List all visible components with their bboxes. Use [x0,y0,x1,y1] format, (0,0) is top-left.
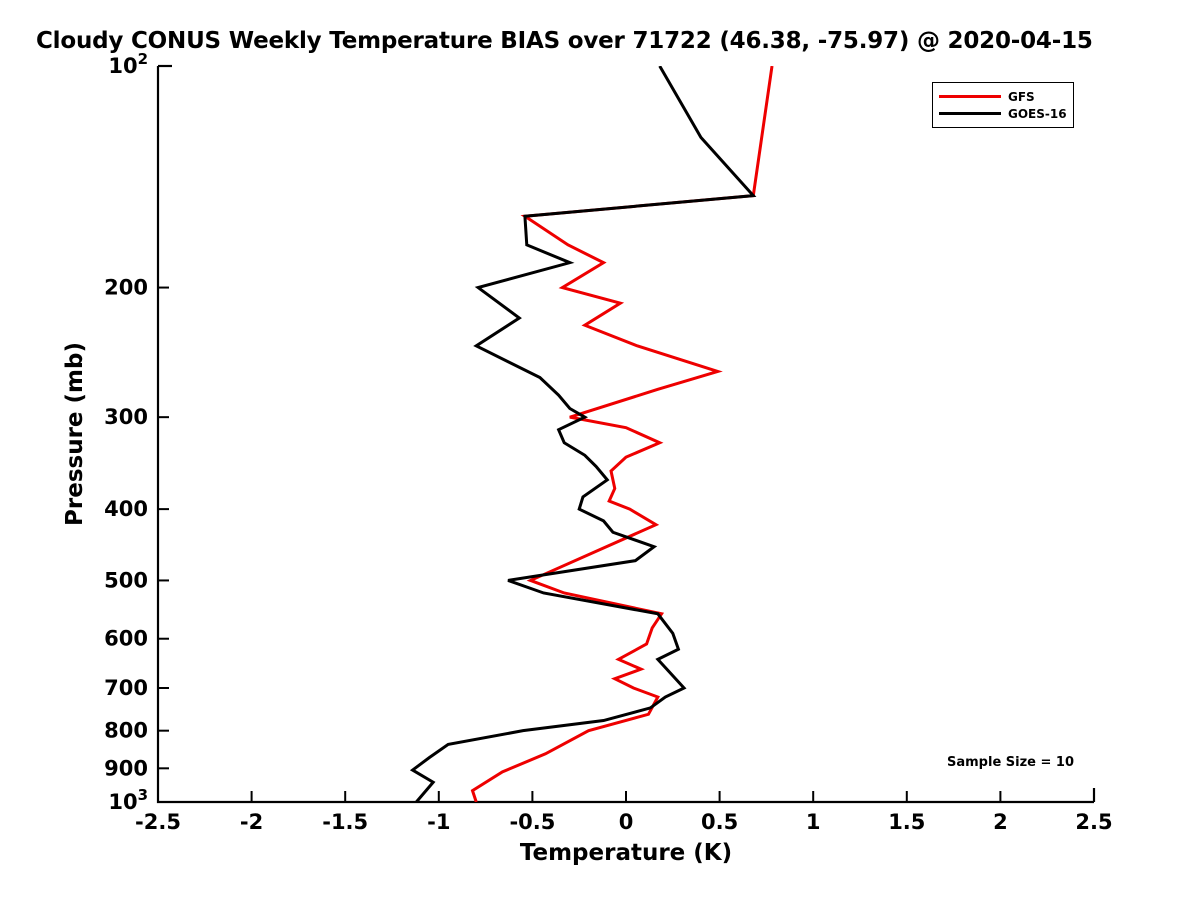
x-tick-label: -1.5 [322,810,368,834]
axis-frame [158,66,1094,802]
x-tick-label: -0.5 [509,810,555,834]
legend-swatch [939,112,1001,115]
chart-figure: Cloudy CONUS Weekly Temperature BIAS ove… [0,0,1200,900]
x-tick-label: -2 [240,810,263,834]
y-tick-label: 800 [104,719,148,743]
x-tick-label: 1 [806,810,821,834]
x-tick-label: 0 [619,810,634,834]
x-tick-label: 0.5 [701,810,738,834]
x-axis-title: Temperature (K) [520,840,732,866]
legend-item[interactable]: GOES-16 [933,105,1073,122]
x-tick-label: 2.5 [1075,810,1112,834]
legend-swatch [939,95,1001,98]
series-line-goes-16 [413,66,754,802]
sample-size-annotation: Sample Size = 10 [947,755,1074,770]
x-tick-label: 1.5 [888,810,925,834]
y-tick-label: 600 [104,627,148,651]
y-tick-label: 200 [104,276,148,300]
y-tick-label: 300 [104,405,148,429]
x-tick-label: -2.5 [135,810,181,834]
series-line-gfs [473,66,773,802]
legend-label: GOES-16 [1008,107,1067,121]
y-tick-label: 500 [104,568,148,592]
legend-label: GFS [1008,90,1035,104]
y-tick-label: 102 [108,50,148,78]
y-tick-label: 400 [104,497,148,521]
y-tick-label: 700 [104,676,148,700]
x-tick-label: -1 [427,810,450,834]
legend-item[interactable]: GFS [933,88,1073,105]
y-axis-title: Pressure (mb) [62,342,88,526]
y-tick-label: 900 [104,756,148,780]
x-tick-label: 2 [993,810,1008,834]
legend: GFSGOES-16 [932,82,1074,128]
